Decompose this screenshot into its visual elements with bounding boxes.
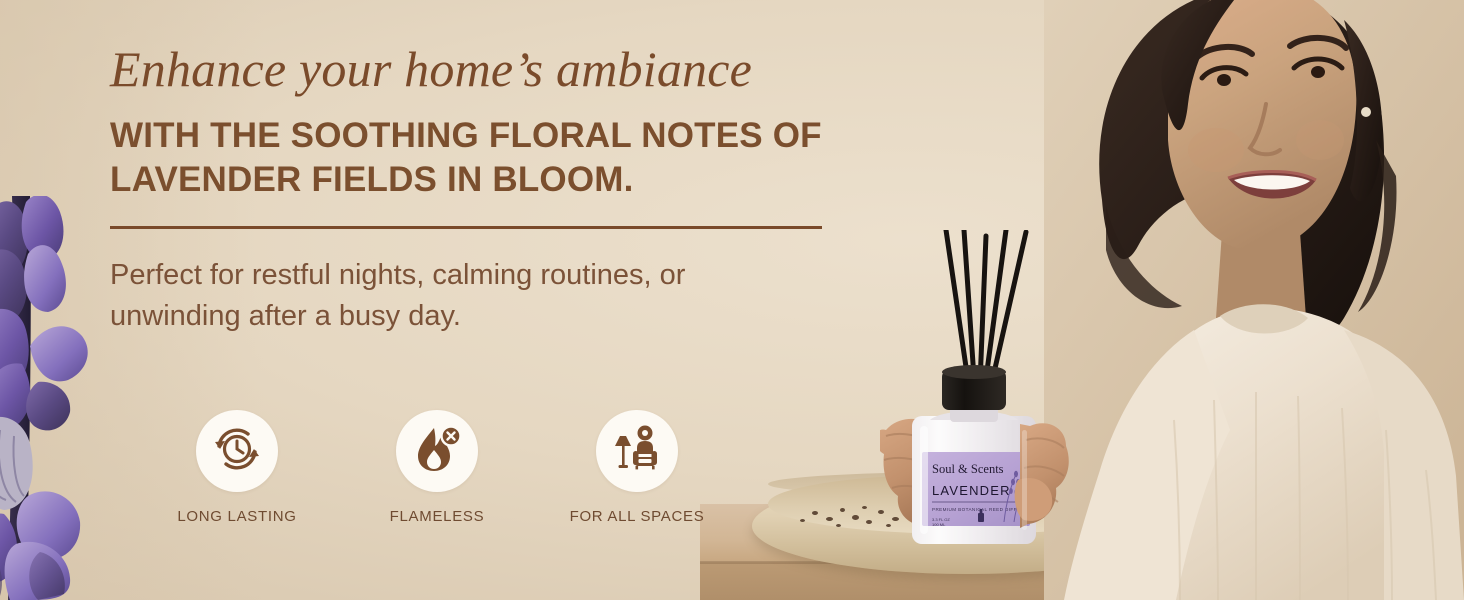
model-photo [1044,0,1464,600]
divider-rule [110,226,822,229]
copy-block: Enhance your home’s ambiance WITH THE SO… [110,42,890,337]
feature-icon-circle [396,410,478,492]
feature-long-lasting: LONG LASTING [172,410,302,525]
svg-text:100 ML: 100 ML [932,522,946,527]
promo-banner: Soul & Scents LAVENDER PREMIUM BOTANICAL… [0,0,1464,600]
feature-icon-circle [596,410,678,492]
svg-text:LAVENDER: LAVENDER [932,483,1011,498]
feature-icon-circle [196,410,278,492]
svg-text:Soul & Scents: Soul & Scents [932,462,1004,476]
flame-no-icon [412,424,462,479]
clock-cycle-icon [212,424,262,479]
feature-label: LONG LASTING [177,508,296,525]
sub-headline: WITH THE SOOTHING FLORAL NOTES OF LAVEND… [110,114,850,202]
feature-label: FOR ALL SPACES [570,508,705,525]
feature-for-all-spaces: FOR ALL SPACES [572,410,702,525]
lavender-flowers-decor [0,196,112,600]
feature-flameless: FLAMELESS [372,410,502,525]
reed-diffuser-product: Soul & Scents LAVENDER PREMIUM BOTANICAL… [880,230,1070,550]
lamp-armchair-icon [612,424,662,479]
feature-label: FLAMELESS [390,508,485,525]
feature-list: LONG LASTING FLAMELESS [172,410,702,525]
script-headline: Enhance your home’s ambiance [110,42,890,96]
body-copy: Perfect for restful nights, calming rout… [110,255,810,337]
